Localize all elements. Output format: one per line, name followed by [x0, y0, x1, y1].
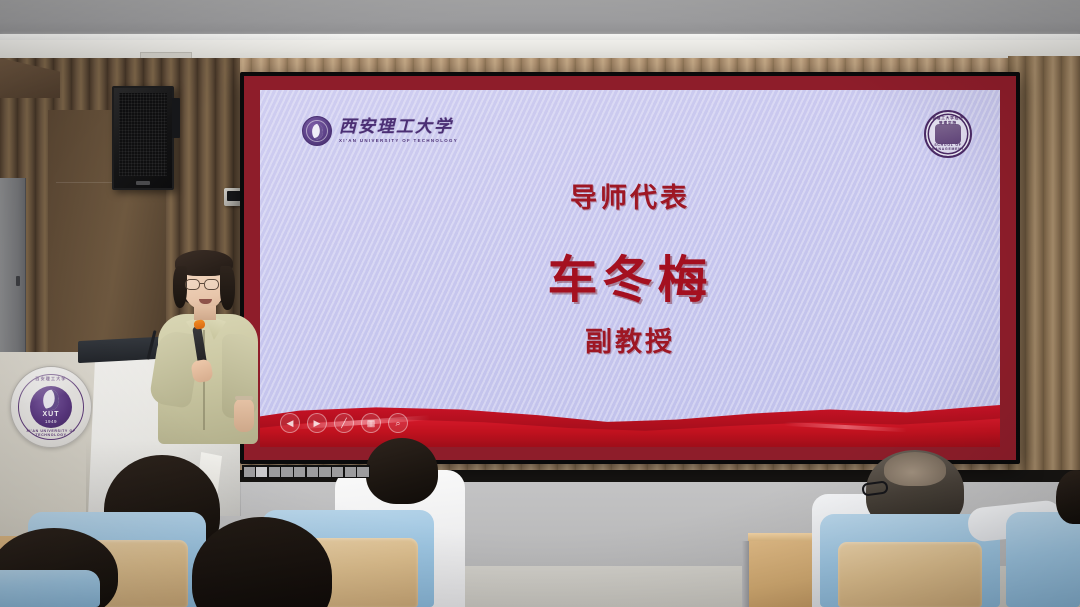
- podium-seal-year: 1949: [45, 419, 57, 424]
- audience-member-head: [366, 438, 438, 504]
- presenter-hair-right: [220, 266, 235, 310]
- slide-thumbnail[interactable]: [294, 467, 305, 477]
- xut-swoosh-icon: [311, 122, 324, 140]
- presenter-right-forearm: [234, 398, 254, 432]
- school-seal-bottom-text: SCHOOL OF MANAGEMENT: [926, 143, 970, 151]
- pen-tool-icon[interactable]: ╱: [334, 413, 354, 433]
- university-name-en: XI'AN UNIVERSITY OF TECHNOLOGY: [339, 138, 458, 143]
- zoom-tool-icon[interactable]: ⌕: [388, 413, 408, 433]
- audience-chair-back: [838, 542, 982, 607]
- podium-seal-abbr: XUT: [43, 411, 60, 418]
- slide-thumbnail[interactable]: [307, 467, 318, 477]
- lecture-hall-scene: 西安理工大学 XI'AN UNIVERSITY OF TECHNOLOGY 西安…: [0, 0, 1080, 607]
- slide-thumbnail[interactable]: [319, 467, 330, 477]
- presentation-screen: 西安理工大学 XI'AN UNIVERSITY OF TECHNOLOGY 西安…: [240, 72, 1020, 464]
- podium-seal-bottom-text: XI'AN UNIVERSITY OF TECHNOLOGY: [11, 429, 91, 437]
- university-logo-left: 西安理工大学 XI'AN UNIVERSITY OF TECHNOLOGY: [302, 116, 458, 146]
- school-seal-emblem: [935, 124, 961, 144]
- slide-thumbnail-strip[interactable]: [242, 465, 370, 478]
- presenter-glasses-right-lens: [204, 279, 219, 290]
- slide-thumbnail[interactable]: [244, 467, 255, 477]
- next-slide-icon[interactable]: ▶: [307, 413, 327, 433]
- ppt-presenter-toolbar[interactable]: ◀ ▶ ╱ ▦ ⌕: [280, 413, 408, 433]
- presenter-neck: [194, 306, 216, 320]
- all-slides-icon[interactable]: ▦: [361, 413, 381, 433]
- presenter-glasses-bridge: [200, 283, 204, 284]
- loudspeaker-badge: [136, 181, 150, 185]
- school-seal-icon: 西安理工大学经济与管理学院 SCHOOL OF MANAGEMENT: [924, 110, 972, 158]
- presenter-glasses-left-lens: [185, 279, 200, 290]
- slide-person-name: 车冬梅: [260, 240, 1000, 312]
- podium-university-seal-icon: 西安理工大学 XUT 1949 XI'AN UNIVERSITY OF TECH…: [10, 366, 92, 448]
- slide-thumbnail[interactable]: [269, 467, 280, 477]
- slide-canvas: 西安理工大学 XI'AN UNIVERSITY OF TECHNOLOGY 西安…: [260, 90, 1000, 447]
- ceiling: [0, 0, 1080, 36]
- desk-right-leg: [742, 541, 749, 607]
- xut-seal-icon: [302, 116, 332, 146]
- slide-person-title: 副教授: [260, 320, 1000, 359]
- presenter-bracelet: [235, 396, 253, 400]
- speaker-presenter: [150, 250, 270, 450]
- wall-loudspeaker-icon: [112, 86, 174, 190]
- audience-chair: [1006, 512, 1080, 607]
- slide-thumbnail[interactable]: [345, 467, 356, 477]
- slide-thumbnail[interactable]: [256, 467, 267, 477]
- slide-thumbnail[interactable]: [281, 467, 292, 477]
- loudspeaker-mount-bracket: [172, 98, 180, 138]
- slide-thumbnail[interactable]: [332, 467, 343, 477]
- previous-slide-icon[interactable]: ◀: [280, 413, 300, 433]
- loudspeaker-grille: [119, 93, 167, 176]
- slide-role-label: 导师代表: [260, 176, 1000, 215]
- university-name-cn: 西安理工大学: [339, 119, 458, 136]
- audience-member-scalp: [884, 452, 946, 486]
- audience-chair: [0, 570, 100, 607]
- slide-thumbnail[interactable]: [357, 467, 368, 477]
- slide-frame: 西安理工大学 XI'AN UNIVERSITY OF TECHNOLOGY 西安…: [244, 76, 1016, 460]
